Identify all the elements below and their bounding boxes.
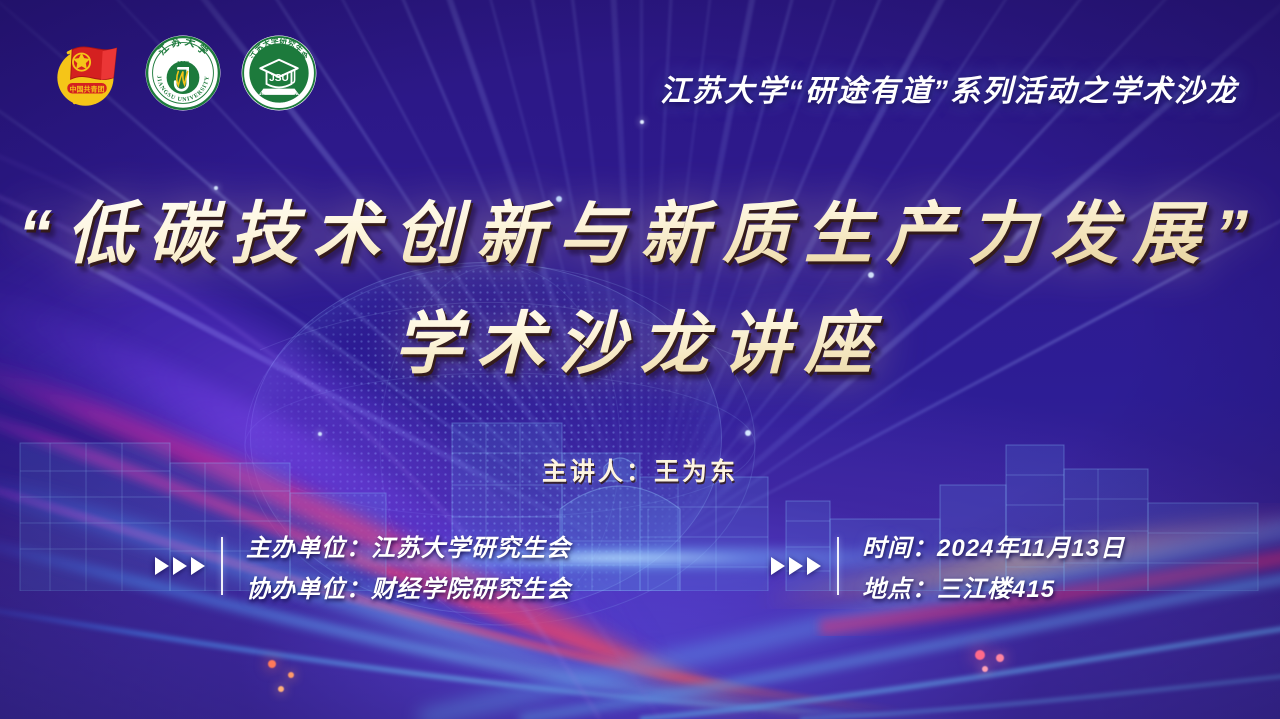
host-organization: 主办单位：江苏大学研究生会	[246, 528, 571, 563]
main-title-block: “低碳技术创新与新质生产力发展” 学术沙龙讲座	[0, 196, 1280, 382]
poster-content: 中国共青团 江 苏 大 学 1902	[0, 0, 1280, 719]
triangle-icon	[789, 557, 803, 575]
schedule-info-block: 时间：2024年11月13日 地点：三江楼415	[771, 528, 1125, 604]
organizer-lines: 主办单位：江苏大学研究生会 协办单位：财经学院研究生会	[246, 528, 571, 604]
info-row: 主办单位：江苏大学研究生会 协办单位：财经学院研究生会 时间：2024年11月1…	[0, 528, 1280, 604]
triangle-markers-right	[771, 557, 821, 575]
triangle-icon	[155, 557, 169, 575]
graduate-union-emblem-icon: 江苏大学研究生会 JSU GRADUATE UNION OF JIANGSU U…	[240, 34, 318, 112]
poster-canvas: 中国共青团 江 苏 大 学 1902	[0, 0, 1280, 719]
communist-youth-league-emblem-icon: 中国共青团	[48, 34, 126, 112]
organizer-info-block: 主办单位：江苏大学研究生会 协办单位：财经学院研究生会	[155, 528, 571, 604]
triangle-icon	[771, 557, 785, 575]
triangle-icon	[191, 557, 205, 575]
co-host-organization: 协办单位：财经学院研究生会	[246, 569, 571, 604]
speaker-name: 主讲人：王为东	[0, 452, 1280, 488]
event-location: 地点：三江楼415	[862, 569, 1125, 604]
triangle-icon	[173, 557, 187, 575]
svg-text:JSU: JSU	[269, 73, 289, 84]
triangle-markers-left	[155, 557, 205, 575]
header-series-title: 江苏大学“研途有道”系列活动之学术沙龙	[660, 66, 1238, 110]
vertical-divider-left	[221, 537, 223, 595]
main-title-line-2: 学术沙龙讲座	[0, 306, 1280, 382]
main-title-line-1: “低碳技术创新与新质生产力发展”	[0, 196, 1280, 272]
logo-group: 中国共青团 江 苏 大 学 1902	[48, 34, 318, 112]
triangle-icon	[807, 557, 821, 575]
vertical-divider-right	[837, 537, 839, 595]
svg-text:中国共青团: 中国共青团	[70, 84, 105, 93]
event-date: 时间：2024年11月13日	[862, 528, 1125, 563]
schedule-lines: 时间：2024年11月13日 地点：三江楼415	[862, 528, 1125, 604]
jiangsu-university-emblem-icon: 江 苏 大 学 1902 JIANGSU UNIVERSITY	[144, 34, 222, 112]
